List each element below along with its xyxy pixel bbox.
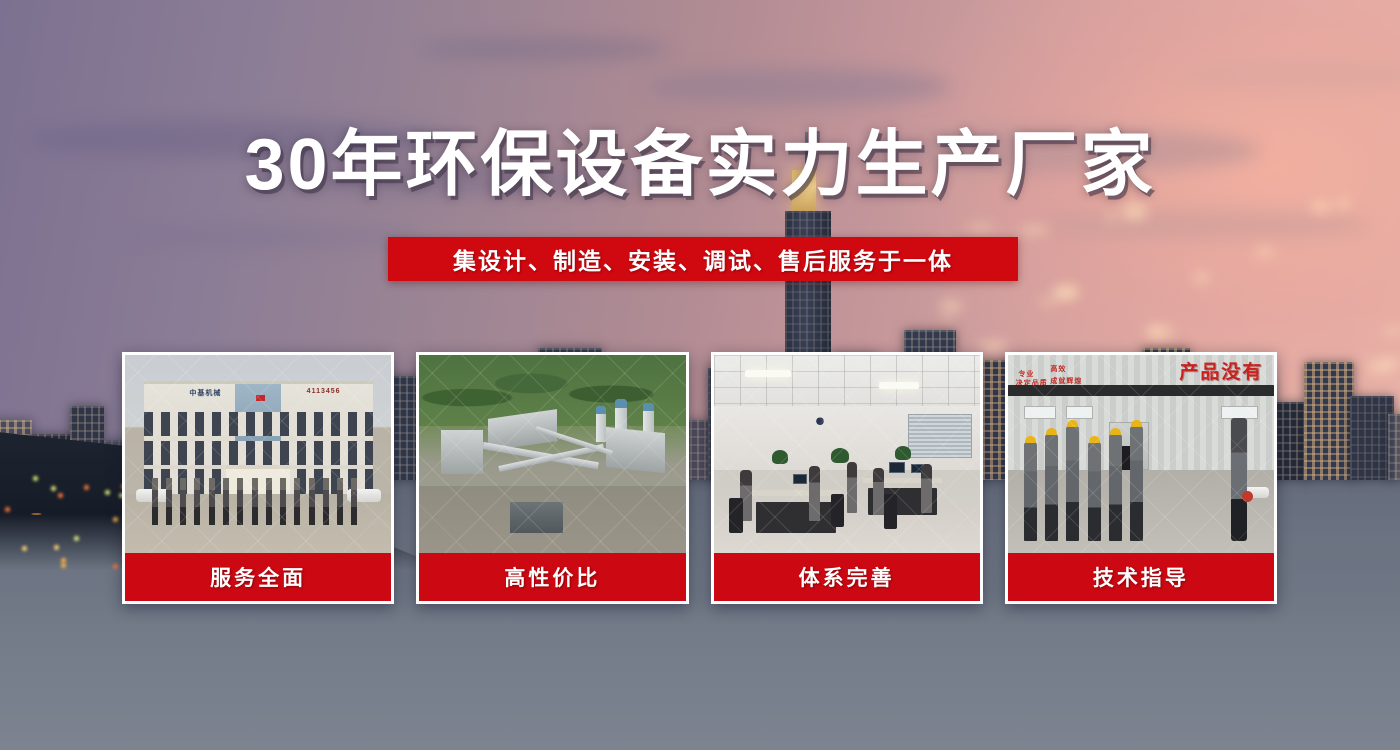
staff-member [166, 478, 172, 526]
instructor [1231, 418, 1247, 541]
page-title: 30年环保设备实力生产厂家 [0, 128, 1400, 204]
staff-member [294, 478, 300, 526]
office-worker [921, 464, 932, 514]
city-light [1194, 272, 1210, 283]
city-light [1382, 328, 1400, 334]
staff-member [266, 478, 272, 526]
feature-card-label: 服务全面 [125, 553, 391, 601]
city-light [1038, 299, 1059, 305]
staff-member [351, 478, 357, 526]
office-worker [873, 468, 884, 516]
hard-hat [1046, 428, 1057, 435]
staff-member [252, 478, 258, 526]
staff-member [323, 478, 329, 526]
plant-shed [510, 502, 563, 534]
factory-worker [1088, 442, 1101, 541]
factory-worker [1024, 442, 1037, 541]
factory-worker [1045, 434, 1058, 541]
storage-silo [596, 406, 606, 442]
city-light [1107, 211, 1115, 223]
staff-member [337, 478, 343, 526]
staff-member [223, 478, 229, 526]
bank-light [61, 563, 66, 568]
factory-worker [1066, 426, 1079, 541]
subtitle-text: 集设计、制造、安装、调试、售后服务于一体 [453, 242, 953, 276]
factory-worker [1130, 426, 1143, 541]
feature-card-label: 高性价比 [419, 553, 685, 601]
feature-card-label: 体系完善 [714, 553, 980, 601]
hero-banner: 30年环保设备实力生产厂家 集设计、制造、安装、调试、售后服务于一体 中基机械 … [0, 0, 1400, 750]
staff-lineup [152, 478, 365, 526]
red-helmet [1242, 491, 1253, 502]
facade-window-band [1008, 385, 1274, 396]
bank-light [5, 507, 10, 512]
feature-card[interactable]: 中基机械 4113456 服务全面 [122, 352, 394, 604]
company-headquarters-photo: 中基机械 4113456 [125, 355, 391, 553]
city-light [1122, 204, 1147, 213]
hard-hat [1110, 428, 1121, 435]
monitor [889, 462, 905, 473]
cloud [420, 38, 672, 61]
building [1304, 362, 1354, 480]
staff-member [280, 478, 286, 526]
city-light [1054, 288, 1079, 299]
office-chair [729, 498, 743, 534]
feature-card-list: 中基机械 4113456 服务全面 [122, 352, 1277, 604]
building-floor [144, 412, 373, 436]
ceiling-light [879, 382, 919, 389]
city-light [939, 300, 963, 312]
bank-light [84, 485, 89, 490]
office-building: 中基机械 4113456 [144, 381, 373, 494]
building [1388, 414, 1400, 480]
bank-light [54, 545, 59, 550]
bank-light [74, 536, 79, 541]
bank-light [33, 476, 38, 481]
bank-light [113, 517, 118, 522]
city-light [1020, 226, 1049, 233]
factory-window [1066, 406, 1093, 420]
office-interior-photo [714, 355, 980, 553]
ceiling-light [745, 370, 791, 377]
potted-plant [772, 450, 788, 464]
office-chair [831, 494, 844, 528]
hard-hat [1067, 420, 1078, 427]
staff-member [309, 478, 315, 526]
flag [256, 395, 265, 401]
hard-hat [1131, 420, 1142, 427]
office-worker [847, 462, 857, 513]
factory-window [1024, 406, 1056, 420]
city-light [978, 341, 1008, 351]
subtitle-banner: 集设计、制造、安装、调试、售后服务于一体 [388, 237, 1018, 281]
city-light [943, 316, 951, 322]
production-plant-aerial-photo [419, 355, 685, 553]
feature-card[interactable]: 产品没有 专业 高效 决定品质 成就辉煌 技术指导 [1005, 352, 1277, 604]
plant-building [441, 430, 484, 474]
office-chair [884, 494, 897, 530]
potted-plant [831, 448, 849, 463]
potted-plant [895, 446, 911, 460]
hard-hat [1089, 436, 1100, 443]
window-blinds [908, 414, 972, 458]
staff-member [194, 478, 200, 526]
bank-light [105, 490, 110, 495]
hard-hat [1025, 436, 1036, 443]
plant-building [606, 427, 665, 473]
monitor [793, 474, 807, 484]
factory-slogan: 高效 [1050, 364, 1066, 374]
building-sign-text: 中基机械 [189, 388, 221, 398]
city-light [966, 224, 995, 230]
bank-light [51, 486, 56, 491]
building-windows [1388, 414, 1400, 480]
factory-sign-text: 产品没有 [1179, 357, 1263, 384]
city-light [1146, 325, 1173, 339]
city-light [1254, 248, 1275, 257]
factory-window [1221, 406, 1258, 420]
desk [756, 502, 836, 534]
staff-member [180, 478, 186, 526]
factory-worker [1109, 434, 1122, 541]
feature-card-label: 技术指导 [1008, 553, 1274, 601]
city-light [1380, 359, 1400, 365]
office-ceiling [714, 355, 980, 406]
building-windows [1304, 362, 1354, 480]
staff-member [152, 478, 158, 526]
staff-member [209, 478, 215, 526]
desk-surface [751, 490, 842, 496]
workers-training-photo: 产品没有 专业 高效 决定品质 成就辉煌 [1008, 355, 1274, 553]
cloud [644, 68, 952, 106]
wall-decal [807, 414, 833, 432]
feature-card[interactable]: 高性价比 [416, 352, 688, 604]
bank-light [113, 564, 118, 569]
staff-member [237, 478, 243, 526]
feature-card[interactable]: 体系完善 [711, 352, 983, 604]
building-phone-text: 4113456 [307, 388, 341, 395]
office-worker [809, 466, 820, 521]
building-floor [144, 441, 373, 465]
bank-light [58, 493, 63, 498]
bank-light [22, 546, 27, 551]
